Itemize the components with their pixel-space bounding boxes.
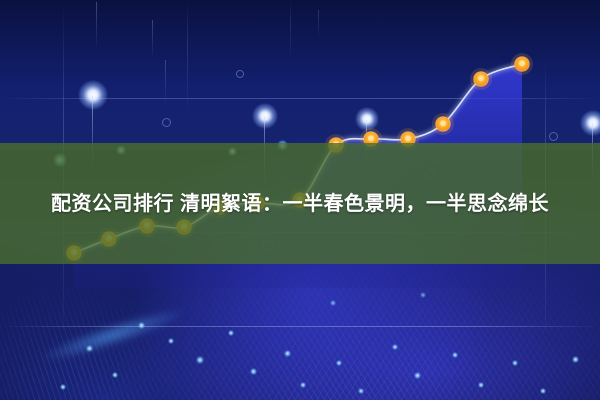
banner-image: 配资公司排行 清明絮语：一半春色景明，一半思念绵长 (0, 0, 600, 400)
page-title: 配资公司排行 清明絮语：一半春色景明，一半思念绵长 (20, 187, 580, 221)
chart-marker-core (368, 135, 374, 141)
chart-marker-core (405, 135, 411, 141)
chart-marker-core (478, 75, 484, 81)
chart-marker-core (440, 120, 446, 126)
chart-marker-core (519, 60, 525, 66)
title-band: 配资公司排行 清明絮语：一半春色景明，一半思念绵长 (0, 143, 600, 264)
